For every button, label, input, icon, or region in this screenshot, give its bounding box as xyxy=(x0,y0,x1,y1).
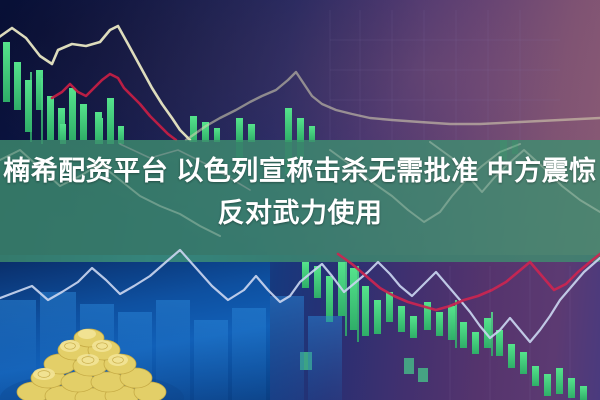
candlestick-series-lower-right-2 xyxy=(424,300,587,400)
headline-line-2: 反对武力使用 xyxy=(0,192,600,234)
news-banner: 楠希配资平台 以色列宣称击杀无需批准 中方震惊 反对武力使用 xyxy=(0,0,600,400)
grid-lines xyxy=(330,10,560,140)
headline-line-1: 楠希配资平台 以色列宣称击杀无需批准 中方震惊 xyxy=(3,156,597,186)
headline: 楠希配资平台 以色列宣称击杀无需批准 中方震惊 反对武力使用 xyxy=(0,150,600,234)
